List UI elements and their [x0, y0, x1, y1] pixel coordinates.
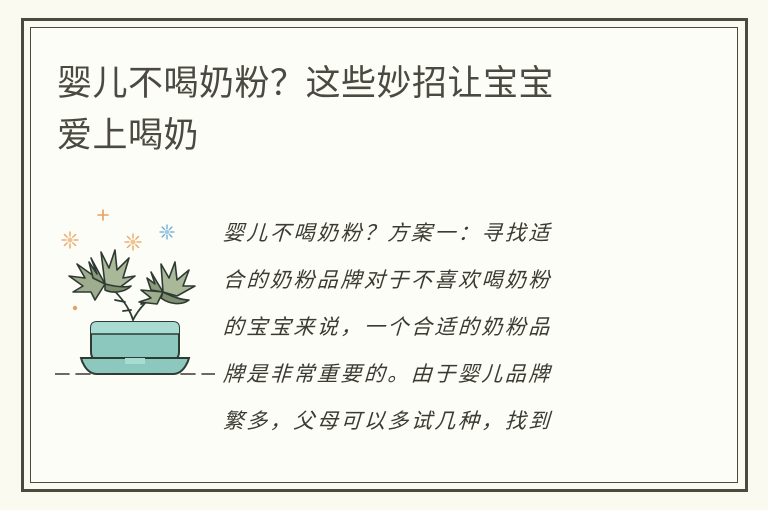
body-line: 繁多，父母可以多试几种，找到 — [222, 398, 664, 445]
plant-leaf-left — [69, 250, 135, 300]
body-line: 婴儿不喝奶粉？方案一：寻找适 — [222, 210, 664, 257]
article-card-page: 婴儿不喝奶粉？这些妙招让宝宝 爱上喝奶 — [0, 0, 768, 510]
plant-leaf-right — [139, 262, 195, 304]
sparkle-orange-flower-left — [62, 232, 78, 248]
article-body: 婴儿不喝奶粉？方案一：寻找适 合的奶粉品牌对于不喜欢喝奶粉 的宝宝来说，一个合适… — [223, 210, 663, 445]
sparkle-orange-dot — [73, 306, 77, 310]
page-title: 婴儿不喝奶粉？这些妙招让宝宝 爱上喝奶 — [57, 58, 667, 162]
body-line: 牌是非常重要的。由于婴儿品牌 — [222, 351, 664, 398]
card-content: 婴儿不喝奶粉？这些妙招让宝宝 爱上喝奶 — [31, 28, 737, 482]
sparkle-blue-flower — [160, 225, 174, 239]
plant-pot — [81, 322, 189, 374]
sparkle-orange-flower-mid — [125, 234, 141, 250]
sparkle-orange-plus — [98, 210, 108, 220]
plant-illustration — [55, 198, 215, 383]
body-line: 的宝宝来说，一个合适的奶粉品 — [222, 304, 664, 351]
body-line: 合的奶粉品牌对于不喜欢喝奶粉 — [222, 257, 664, 304]
